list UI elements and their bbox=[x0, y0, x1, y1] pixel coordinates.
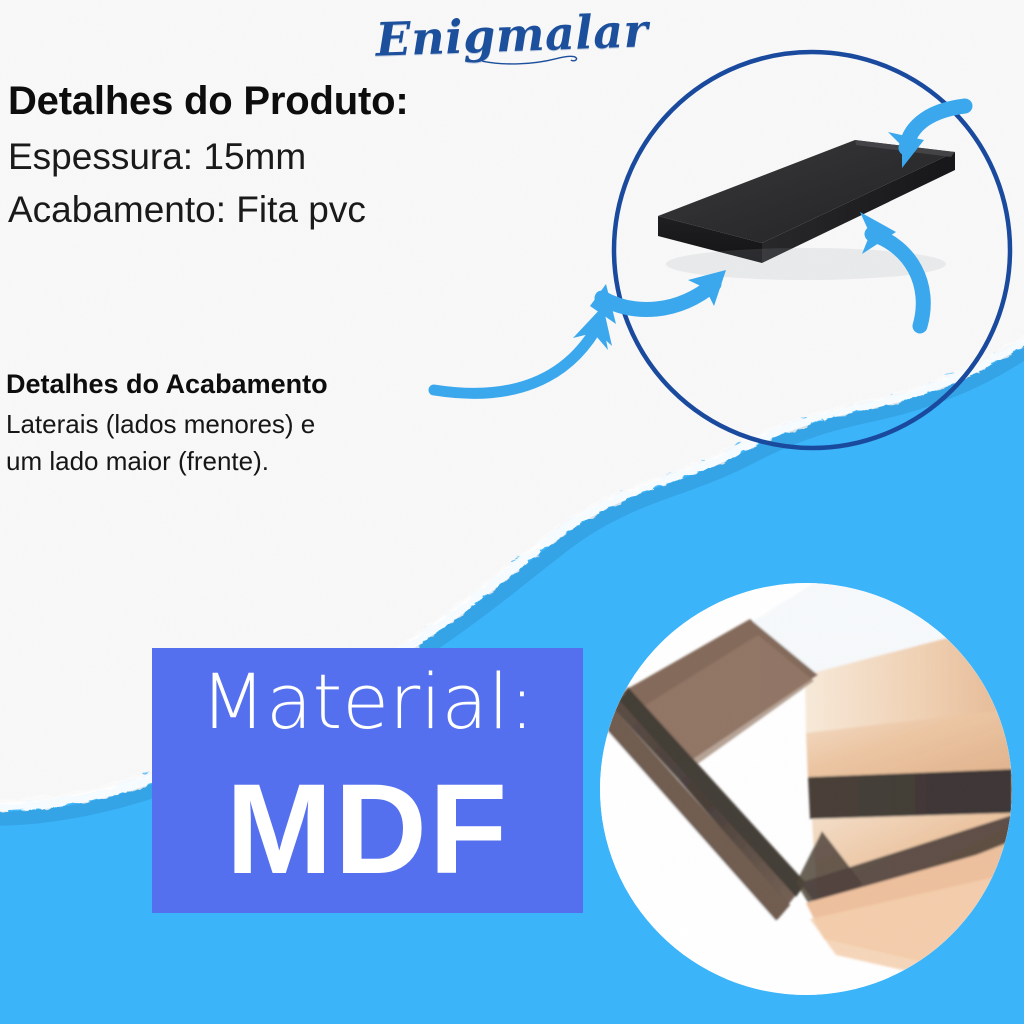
arrow-left-icon bbox=[590, 270, 726, 324]
material-label: Material: bbox=[200, 664, 534, 740]
product-details-heading: Detalhes do Produto: bbox=[8, 78, 568, 125]
product-detail-thickness: Espessura: 15mm bbox=[8, 131, 568, 184]
product-details-block: Detalhes do Produto: Espessura: 15mm Aca… bbox=[8, 78, 568, 236]
product-detail-finish: Acabamento: Fita pvc bbox=[8, 184, 568, 237]
finish-detail-line-2: um lado maior (frente). bbox=[6, 443, 506, 480]
mdf-edge-photo-circle bbox=[600, 583, 1012, 995]
material-value: MDF bbox=[226, 766, 509, 894]
mdf-edge-photo-content bbox=[600, 583, 1012, 995]
product-photo-circle bbox=[610, 48, 1014, 452]
material-banner: Material: MDF bbox=[152, 648, 583, 913]
brand-logo-text: Enigmalar bbox=[375, 3, 649, 66]
infographic-canvas: Enigmalar Detalhes do Produto: Espessura… bbox=[0, 0, 1024, 1024]
